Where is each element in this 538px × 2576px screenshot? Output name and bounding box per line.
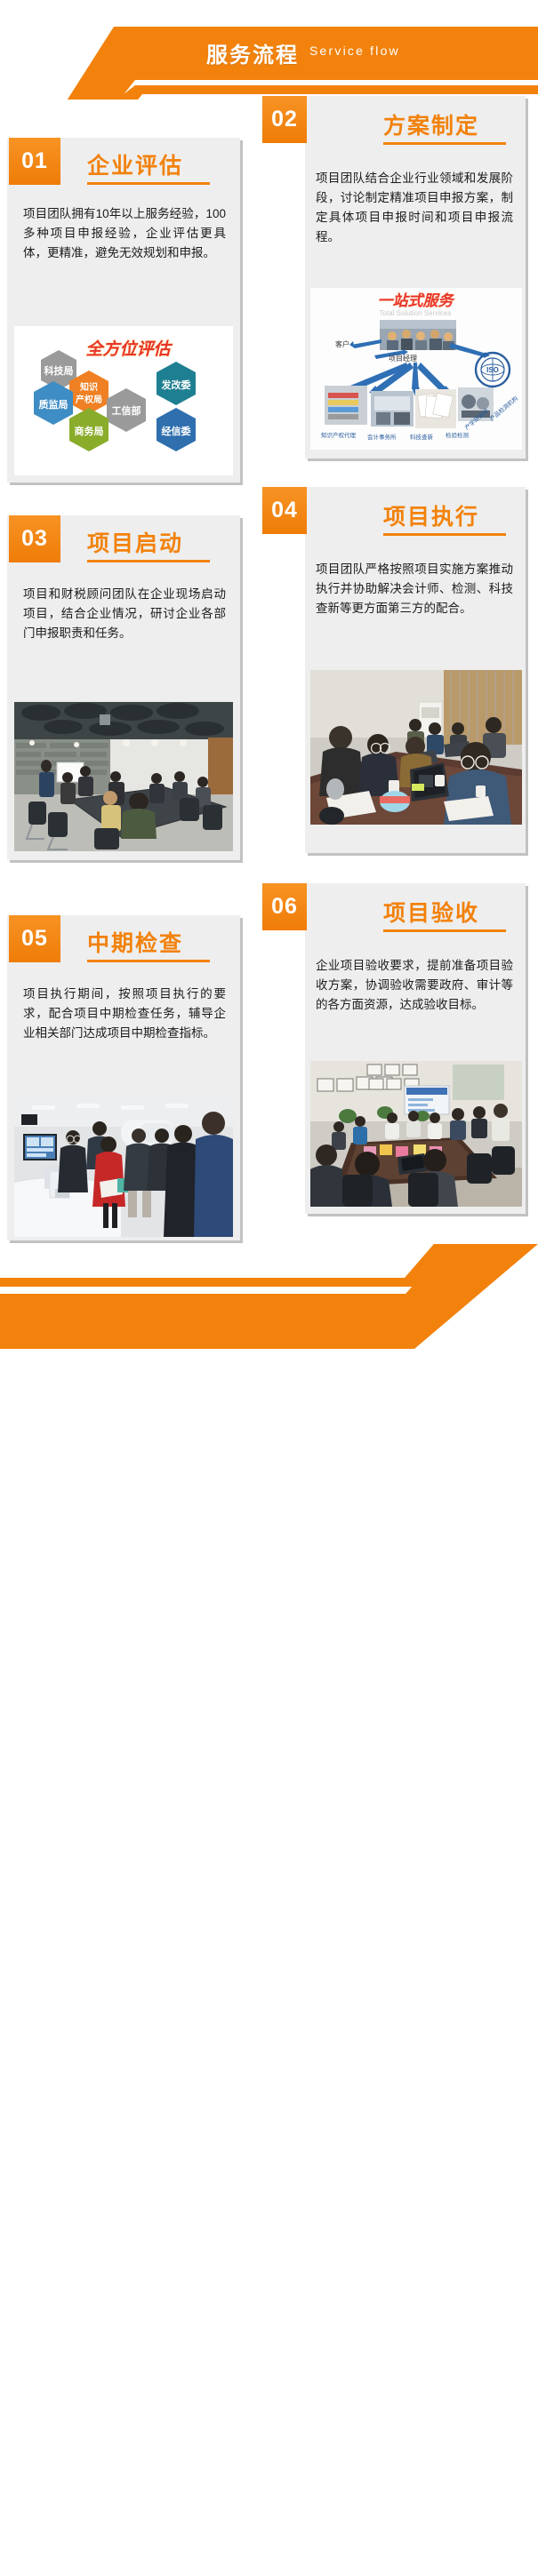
card-01[interactable]: 01 企业评估 项目团队拥有10年以上服务经验，100多种项目申报经验，企业评估… bbox=[7, 138, 244, 486]
card-04-body: 项目团队严格按照项目实施方案推动执行并协助解决会计师、检测、科技查新等更方面第三… bbox=[316, 560, 513, 618]
card-04-title-rule bbox=[383, 533, 506, 536]
photo-team-working-laptops bbox=[310, 670, 522, 825]
card-02-title-rule bbox=[383, 142, 506, 145]
svg-text:知识: 知识 bbox=[79, 381, 98, 393]
photo-conference-room-kickoff bbox=[14, 702, 233, 851]
card-01-media-hexagon-chart: 科技局 知识 产权局 质监局 工信部 商务局 bbox=[14, 326, 233, 475]
svg-text:质监局: 质监局 bbox=[39, 398, 68, 411]
card-01-title-rule bbox=[87, 182, 210, 185]
card-06-title-rule bbox=[383, 929, 506, 932]
svg-text:商务局: 商务局 bbox=[75, 425, 104, 437]
svg-text:科技查新: 科技查新 bbox=[410, 433, 434, 441]
card-01-body: 项目团队拥有10年以上服务经验，100多种项目申报经验，企业评估更具体，更精准，… bbox=[23, 204, 226, 263]
card-01-number-badge: 01 bbox=[9, 138, 60, 185]
svg-text:产权局: 产权局 bbox=[76, 394, 102, 405]
card-05-title-rule bbox=[87, 960, 210, 962]
footer-hotline-label: 全国统一热线： bbox=[52, 2557, 151, 2576]
card-03-media-photo bbox=[14, 702, 233, 851]
card-06-title: 项目验收 bbox=[383, 896, 479, 928]
photo-acceptance-meeting bbox=[310, 1061, 522, 1207]
svg-text:项目经理: 项目经理 bbox=[389, 354, 417, 363]
card-04-title: 项目执行 bbox=[383, 499, 479, 531]
photo-site-visit-showroom bbox=[14, 1097, 233, 1237]
svg-text:发改委: 发改委 bbox=[161, 379, 192, 391]
card-03[interactable]: 03 项目启动 项目和财税顾问团队在企业现场启动项目，结合企业情况，研讨企业各部… bbox=[7, 515, 244, 864]
card-02-body: 项目团队结合企业行业领域和发展阶段，讨论制定精准项目申报方案，制定具体项目申报时… bbox=[316, 169, 513, 246]
card-04[interactable]: 04 项目执行 项目团队严格按照项目实施方案推动执行并协助解决会计师、检测、科技… bbox=[262, 487, 529, 857]
one-stop-service-diagram: 一站式服务 Total Solution Services bbox=[310, 288, 522, 450]
svg-text:一站式服务: 一站式服务 bbox=[378, 292, 456, 309]
card-02-number-badge: 02 bbox=[262, 96, 307, 143]
card-05-body: 项目执行期间，按照项目执行的要求，配合项目中期检查任务，辅导企业相关部门达成项目… bbox=[23, 985, 226, 1043]
svg-text:工信部: 工信部 bbox=[112, 404, 141, 417]
footer-hotline-number: 400-150-1560 bbox=[162, 2550, 311, 2576]
card-03-body: 项目和财税顾问团队在企业现场启动项目，结合企业情况，研讨企业各部门申报职责和任务… bbox=[23, 585, 226, 643]
svg-text:知识产权代理: 知识产权代理 bbox=[321, 431, 357, 439]
svg-text:检验检测: 检验检测 bbox=[446, 431, 470, 439]
card-02[interactable]: 02 方案制定 项目团队结合企业行业领域和发展阶段，讨论制定精准项目申报方案，制… bbox=[262, 96, 529, 462]
svg-text:会计事务所: 会计事务所 bbox=[367, 433, 397, 441]
service-flow-board: 01 企业评估 项目团队拥有10年以上服务经验，100多种项目申报经验，企业评估… bbox=[0, 0, 538, 1367]
card-03-title-rule bbox=[87, 560, 210, 562]
svg-text:全方位评估: 全方位评估 bbox=[85, 339, 173, 359]
card-05-title: 中期检查 bbox=[87, 926, 183, 958]
card-05[interactable]: 05 中期检查 项目执行期间，按照项目执行的要求，配合项目中期检查任务，辅导企业… bbox=[7, 915, 244, 1244]
card-05-number-badge: 05 bbox=[9, 915, 60, 962]
card-01-title: 企业评估 bbox=[87, 148, 183, 180]
svg-text:ISO: ISO bbox=[486, 366, 499, 374]
svg-text:Total Solution Services: Total Solution Services bbox=[380, 309, 452, 317]
card-04-media-photo bbox=[310, 670, 522, 825]
card-06[interactable]: 06 项目验收 企业项目验收要求，提前准备项目验收方案，协调验收需要政府、审计等… bbox=[262, 883, 529, 1217]
card-06-number-badge: 06 bbox=[262, 883, 307, 930]
card-04-number-badge: 04 bbox=[262, 487, 307, 534]
hexagon-assessment-chart: 科技局 知识 产权局 质监局 工信部 商务局 bbox=[14, 326, 233, 475]
svg-text:经信委: 经信委 bbox=[162, 425, 192, 437]
svg-text:客户: 客户 bbox=[335, 339, 349, 348]
card-06-media-photo bbox=[310, 1061, 522, 1207]
page-footer: 全国统一热线： 400-150-1560 bbox=[0, 1244, 538, 1367]
svg-text:科技局: 科技局 bbox=[44, 364, 74, 377]
card-03-title: 项目启动 bbox=[87, 526, 183, 558]
footer-chevron-shape bbox=[0, 1244, 538, 1367]
card-06-body: 企业项目验收要求，提前准备项目验收方案，协调验收需要政府、审计等的各方面资源，达… bbox=[316, 956, 513, 1015]
card-02-media-one-stop-service: 一站式服务 Total Solution Services bbox=[310, 288, 522, 450]
card-03-number-badge: 03 bbox=[9, 515, 60, 562]
card-02-title: 方案制定 bbox=[383, 108, 479, 140]
card-05-media-photo bbox=[14, 1097, 233, 1237]
